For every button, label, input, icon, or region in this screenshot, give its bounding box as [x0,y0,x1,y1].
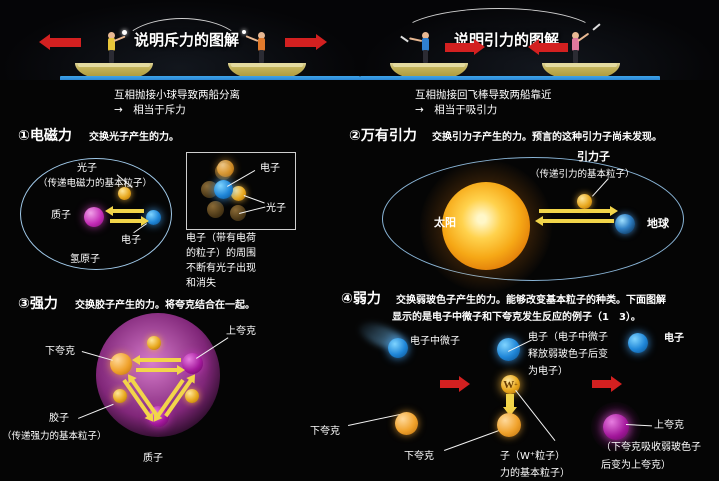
caption-repulsion-line1: 互相抛接小球导致两船分离 [114,88,240,103]
label-proton: 质子 [51,209,71,223]
water-surface-right [360,76,660,80]
section-name: 电磁力 [30,128,72,144]
label-hydrogen-atom: 氢原子 [70,253,100,267]
person-left [422,32,429,62]
gluon-particle [147,336,161,350]
label-electron-right: 电子 [664,332,684,346]
leader-down-quark-weak [444,430,499,451]
force-arrow-left [112,209,144,213]
label-up-quark-note2: 后变为上夸克） [601,459,671,473]
label-electron-center-line1: 电子（电子中微子 [528,331,608,345]
label-electron-center-line3: 为电子） [528,365,568,379]
label-down-quark-weak: 下夸克 [404,450,434,464]
reaction-arrow-2 [592,380,612,388]
label-down-quark-strong: 下夸克 [45,345,75,359]
infographic-root: 说明斥力的图解 说明引力的图解 互相抛接小球导致两船分离 → [0,0,719,481]
section-desc: 交换引力子产生的力。预言的这种引力子尚未发现。 [432,132,662,143]
panel-title-repulsion: 说明斥力的图解 [134,29,239,50]
section-header-electromagnetic: ①电磁力 交换光子产生的力。 [18,125,179,145]
person-legs [423,50,428,63]
gluon-particle [113,389,127,403]
down-quark-particle [110,353,132,375]
section-number: ② [349,128,361,144]
panel-attraction: 说明引力的图解 [360,0,719,80]
down-quark-particle-center [497,413,521,437]
person-legs [259,50,264,63]
person-right [258,32,265,62]
label-inset-electron: 电子 [260,162,280,176]
person-legs [573,50,578,63]
section-number: ① [18,128,30,144]
section-header-gravity: ②万有引力 交换引力子产生的力。预言的这种引力子尚未发现。 [349,125,662,145]
arrow-right-red [445,43,475,52]
person-left [108,32,115,62]
section-number: ③ [18,296,30,312]
electron-photon-inset: 电子 光子 [186,152,296,230]
person-legs [109,50,114,63]
label-down-quark-edge: 下夸克 [310,425,340,439]
arrow-right-red [285,38,317,47]
label-photon: 光子 [77,162,97,176]
note-electron-line4: 和消失 [186,277,216,291]
w-boson-charge: + [514,382,517,388]
caption-attraction-line1: 互相抛接回飞棒导致两船靠近 [415,88,552,103]
gluon-exchange-arrow-2 [136,368,178,372]
photon-cloud-particle [230,205,246,221]
label-up-quark-note1: （下夸克吸收弱玻色子 [601,441,701,455]
section-desc-line2: 显示的是电子中微子和下夸克发生反应的例子（1 3）。 [392,312,641,323]
electron-neutrino-particle [388,338,408,358]
label-proton-strong: 质子 [143,452,163,466]
section-name: 弱力 [353,291,381,307]
proton-particle [84,207,104,227]
gluon-exchange-arrow-1 [139,358,181,362]
label-wboson-line2: 力的基本粒子） [500,467,570,481]
force-arrow-right [110,219,142,223]
gluon-particle [185,389,199,403]
photon-cloud-particle [217,160,234,177]
note-electron-line3: 不断有光子出现 [186,262,256,276]
w-decay-arrow [506,394,514,408]
label-electron-center-line2: 释放弱玻色子后变 [528,348,608,362]
caption-attraction-line2: → 相当于吸引力 [415,103,497,118]
label-gluon-sub: （传递强力的基本粒子） [2,430,107,444]
arrow-left-red [538,43,568,52]
gravity-arrow-left [542,219,614,223]
leader-down-quark-edge [348,414,401,426]
water-surface-left [60,76,360,80]
photon-emitted-particle [231,186,246,201]
section-header-weak-line2: 显示的是电子中微子和下夸克发生反应的例子（1 3）。 [392,305,641,324]
leader-w-boson [515,390,555,441]
label-sun: 太阳 [434,216,456,230]
label-earth: 地球 [647,217,669,231]
label-graviton-sub: （传递引力的基本粒子） [530,168,635,182]
section-number: ④ [341,291,353,307]
label-gluon: 胶子 [49,412,69,426]
photon-cloud-particle [207,201,224,218]
label-electron: 电子 [121,234,141,248]
down-quark-particle-weak [395,412,418,435]
label-photon-sub: （传递电磁力的基本粒子） [38,177,152,191]
thrown-ball [122,30,127,35]
label-up-quark-strong: 上夸克 [226,325,256,339]
gravity-arrow-right [539,209,611,213]
section-desc: 交换胶子产生的力。将夸克结合在一起。 [75,300,255,311]
label-electron-neutrino: 电子中微子 [410,335,460,349]
leader-inset-photon [244,195,265,203]
earth-body [615,214,635,234]
section-desc: 交换光子产生的力。 [89,132,179,143]
electron-final-particle [628,333,648,353]
up-quark-particle-weak [603,414,629,440]
section-name: 万有引力 [361,128,417,144]
section-header-strong: ③强力 交换胶子产生的力。将夸克结合在一起。 [18,293,255,313]
label-up-quark-weak: 上夸克 [654,419,684,433]
note-electron-line2: 的粒子）的周围 [186,247,256,261]
person-right [572,32,579,62]
graviton-particle [577,194,592,209]
caption-repulsion-line2: → 相当于斥力 [114,103,186,118]
panel-repulsion: 说明斥力的图解 [0,0,360,80]
section-name: 强力 [30,296,58,312]
label-inset-photon: 光子 [266,202,286,216]
label-graviton: 引力子 [577,150,610,164]
thrown-ball-2 [242,30,246,34]
w-boson-symbol: W [503,379,514,391]
arrow-left-red [49,38,81,47]
note-electron-line1: 电子（带有电荷 [186,232,256,246]
reaction-arrow-1 [440,380,460,388]
label-wboson-line1: 子（W⁺粒子） [500,450,565,464]
